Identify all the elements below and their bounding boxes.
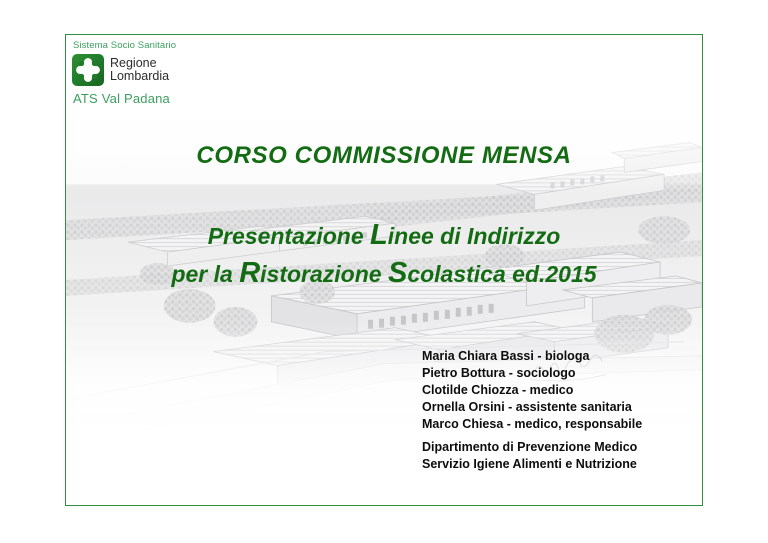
slide-canvas: Sistema Socio Sanitario — [0, 0, 768, 543]
presenters-list: Maria Chiara Bassi - biologa Pietro Bott… — [422, 348, 642, 433]
list-item: Maria Chiara Bassi - biologa — [422, 348, 642, 365]
subtitle-2-part-2: istorazione — [260, 261, 388, 287]
subtitle-2-drop-cap-1: R — [239, 257, 260, 289]
presentation-slide: Sistema Socio Sanitario — [65, 34, 703, 506]
department-line-2: Servizio Igiene Alimenti e Nutrizione — [422, 456, 637, 473]
list-item: Clotilde Chiozza - medico — [422, 382, 642, 399]
department-block: Dipartimento di Prevenzione Medico Servi… — [422, 439, 637, 473]
subtitle-1-part-1: Presentazione — [208, 223, 370, 249]
subtitle-1-drop-cap: L — [370, 219, 388, 251]
institutional-logo-block: Sistema Socio Sanitario — [72, 40, 252, 106]
subtitle-2-drop-cap-2: S — [388, 257, 407, 289]
brand-line-1: Regione — [110, 56, 157, 70]
subtitle-line-1: Presentazione Linee di Indirizzo — [66, 219, 702, 252]
sistema-socio-sanitario-label: Sistema Socio Sanitario — [73, 40, 252, 51]
rosa-camuna-icon — [72, 54, 104, 86]
page-title: CORSO COMMISSIONE MENSA — [66, 142, 702, 170]
subtitle-2-part-3: colastica ed.2015 — [407, 261, 596, 287]
list-item: Pietro Bottura - sociologo — [422, 365, 642, 382]
list-item: Marco Chiesa - medico, responsabile — [422, 416, 642, 433]
regione-lombardia-wordmark: Regione Lombardia — [110, 57, 169, 84]
list-item: Ornella Orsini - assistente sanitaria — [422, 399, 642, 416]
ats-val-padana-label: ATS Val Padana — [73, 91, 252, 106]
department-line-1: Dipartimento di Prevenzione Medico — [422, 439, 637, 456]
subtitle-1-part-2: inee di Indirizzo — [388, 223, 561, 249]
subtitle-line-2: per la Ristorazione Scolastica ed.2015 — [66, 257, 702, 290]
regione-lombardia-logo: Regione Lombardia — [72, 54, 252, 86]
subtitle-2-part-1: per la — [171, 261, 239, 287]
brand-line-2: Lombardia — [110, 69, 169, 83]
